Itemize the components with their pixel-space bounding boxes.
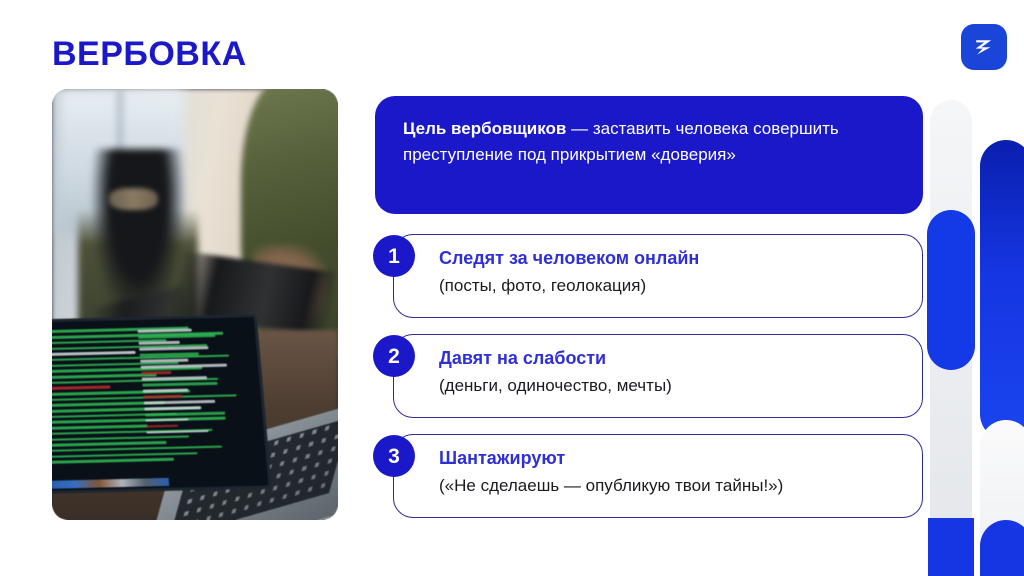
item-subtitle: («Не сделаешь — опубликую твои тайны!») bbox=[439, 475, 922, 497]
item-title: Следят за человеком онлайн bbox=[439, 247, 922, 270]
photo-laptop bbox=[52, 300, 338, 520]
list-item[interactable]: 2 Давят на слабости (деньги, одиночество… bbox=[393, 334, 923, 418]
photo-taskbar bbox=[52, 478, 170, 489]
item-number-badge: 3 bbox=[373, 435, 415, 477]
goal-callout: Цель вербовщиков — заставить человека со… bbox=[375, 96, 923, 214]
item-title: Давят на слабости bbox=[439, 347, 922, 370]
decorative-blue-bar-bottom bbox=[980, 520, 1024, 576]
brand-logo-icon[interactable] bbox=[961, 24, 1007, 70]
decorative-white-notch bbox=[980, 420, 1024, 560]
photo-laptop-screen bbox=[52, 314, 272, 494]
slide-root: ВЕРБОВКА bbox=[0, 0, 1024, 576]
list-item[interactable]: 3 Шантажируют («Не сделаешь — опубликую … bbox=[393, 434, 923, 518]
item-number-badge: 2 bbox=[373, 335, 415, 377]
goal-text: Цель вербовщиков — заставить человека со… bbox=[403, 116, 895, 168]
item-subtitle: (посты, фото, геолокация) bbox=[439, 275, 922, 297]
decorative-blue-bar-middle bbox=[927, 210, 975, 370]
photo-mask-eyes bbox=[109, 188, 158, 210]
item-subtitle: (деньги, одиночество, мечты) bbox=[439, 375, 922, 397]
photo-code-right bbox=[138, 327, 258, 471]
goal-lead: Цель вербовщиков bbox=[403, 119, 566, 138]
illustration-photo bbox=[52, 89, 338, 520]
decorative-gray-bar bbox=[930, 100, 972, 576]
decorative-blue-bar-right bbox=[980, 140, 1024, 440]
page-title: ВЕРБОВКА bbox=[52, 36, 247, 73]
decorative-blue-block-lower bbox=[928, 518, 974, 576]
photo-scene bbox=[52, 89, 338, 520]
item-title: Шантажируют bbox=[439, 447, 922, 470]
list-item[interactable]: 1 Следят за человеком онлайн (посты, фот… bbox=[393, 234, 923, 318]
item-number-badge: 1 bbox=[373, 235, 415, 277]
